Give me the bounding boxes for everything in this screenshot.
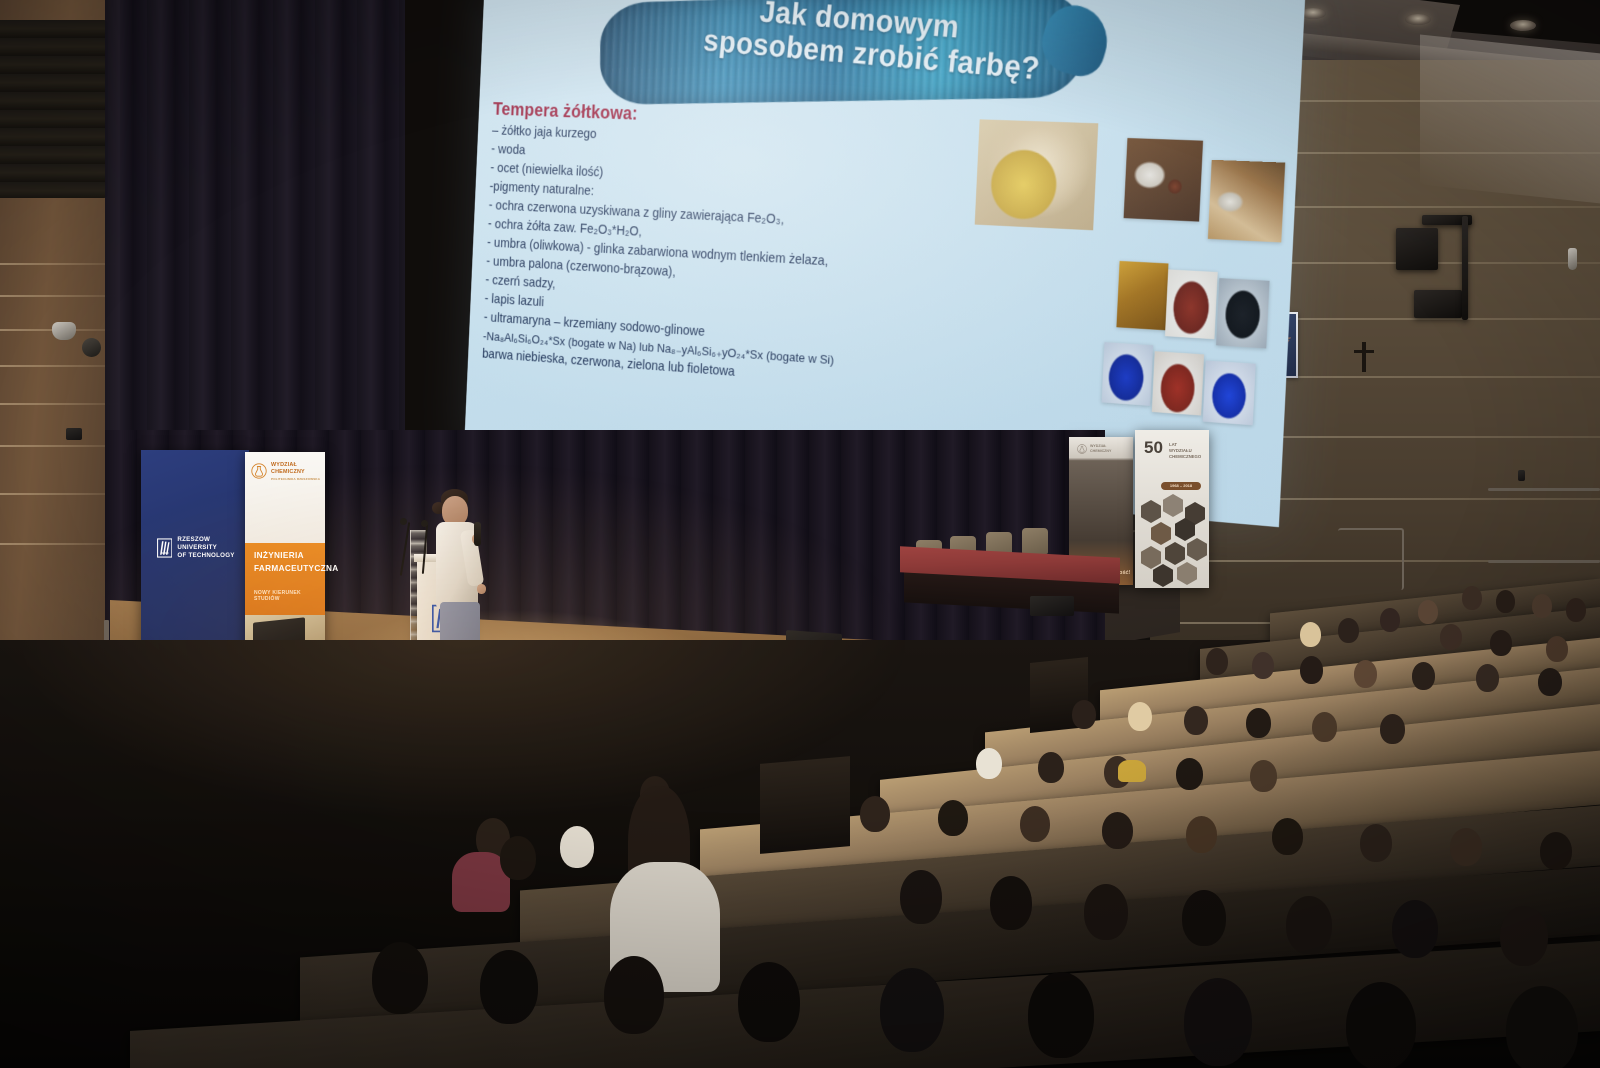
audience-head bbox=[1300, 656, 1323, 684]
crucifix-icon bbox=[1362, 342, 1366, 372]
wall-outlet-box bbox=[66, 428, 82, 440]
ceiling-camera bbox=[52, 322, 76, 340]
audience-head bbox=[372, 942, 428, 1014]
handheld-microphone[interactable] bbox=[474, 522, 481, 546]
slide-photo-lapis-blue bbox=[1102, 342, 1154, 406]
audience-head bbox=[1532, 594, 1552, 618]
audience-head bbox=[1346, 982, 1416, 1068]
anniversary-subtitle: LAT WYDZIAŁU CHEMICZNEGO bbox=[1169, 442, 1201, 461]
presenter-hand bbox=[477, 584, 486, 594]
audience-head bbox=[1538, 668, 1562, 696]
audience-head bbox=[1184, 706, 1208, 735]
audience-head-yellow-sleeve bbox=[1118, 760, 1146, 782]
audience-head bbox=[938, 800, 968, 836]
aisle-step bbox=[760, 756, 850, 854]
audience-head bbox=[1354, 660, 1377, 688]
flask-icon bbox=[251, 463, 267, 479]
audience-head bbox=[604, 956, 664, 1034]
audience-head bbox=[1392, 900, 1438, 958]
audience-head bbox=[1380, 714, 1405, 744]
ceiling-light bbox=[1405, 14, 1431, 25]
slide-photo-cracked-egg-yolk bbox=[975, 119, 1099, 230]
audience-head bbox=[1028, 972, 1094, 1058]
slide-photo-yolk-in-cup bbox=[1124, 138, 1204, 222]
stage-light-pole bbox=[1462, 216, 1468, 320]
audience-head bbox=[1272, 818, 1303, 855]
hexagon-pattern bbox=[1139, 494, 1205, 584]
audience-head bbox=[1084, 884, 1128, 940]
audience-head bbox=[990, 876, 1032, 930]
audience-head bbox=[1566, 598, 1586, 622]
audience-head bbox=[1338, 618, 1359, 643]
audience-head bbox=[1412, 662, 1435, 690]
wall-panel-box bbox=[1518, 470, 1525, 481]
audience-head bbox=[1176, 758, 1203, 790]
banner-program-title: INŻYNIERIA FARMACEUTYCZNA bbox=[254, 550, 339, 575]
banner-50-anniversary: 50 LAT WYDZIAŁU CHEMICZNEGO 1968 – 2018 bbox=[1135, 430, 1209, 588]
camera-dome bbox=[82, 338, 101, 357]
microphone-capsule bbox=[421, 520, 428, 527]
audience-head bbox=[1020, 806, 1050, 842]
audience-head bbox=[1450, 828, 1482, 866]
audience-head bbox=[1206, 648, 1228, 675]
audience-head bbox=[1250, 760, 1277, 792]
audience-head bbox=[1128, 702, 1152, 731]
audience-head bbox=[900, 870, 942, 924]
audience-head bbox=[1506, 986, 1578, 1068]
audience-head bbox=[560, 826, 594, 868]
crucifix-cross-bar bbox=[1354, 350, 1374, 353]
wall-sconce bbox=[1568, 248, 1577, 270]
program-line2: FARMACEUTYCZNA bbox=[254, 563, 339, 575]
audience-head bbox=[1184, 978, 1252, 1066]
audience-head bbox=[1496, 590, 1515, 613]
stage-light-profile bbox=[1414, 290, 1462, 318]
audience-head bbox=[1360, 824, 1392, 862]
balcony-rail bbox=[1488, 560, 1600, 563]
audience-head bbox=[1182, 890, 1226, 946]
slide-photo-yellow-ochre bbox=[1116, 261, 1168, 330]
audience-head bbox=[1476, 664, 1499, 692]
faculty-line2: CHEMICZNY bbox=[1090, 449, 1111, 454]
audience-head bbox=[1418, 600, 1438, 624]
audience-head bbox=[1500, 906, 1548, 966]
ceiling-light bbox=[1510, 20, 1536, 31]
wall-highlight bbox=[1420, 34, 1600, 205]
audience-head bbox=[976, 748, 1002, 779]
prz-logo: RZESZOW UNIVERSITY OF TECHNOLOGY bbox=[157, 536, 249, 560]
audience-head bbox=[1252, 652, 1274, 679]
left-line-array-speaker bbox=[0, 20, 108, 198]
faculty-line1: WYDZIAŁ bbox=[271, 462, 320, 469]
stair-railing bbox=[1338, 528, 1404, 590]
anniversary-years: 1968 – 2018 bbox=[1161, 482, 1201, 490]
audience-head bbox=[1300, 622, 1321, 647]
banner-org-line2: OF TECHNOLOGY bbox=[177, 552, 249, 560]
faculty-line2: CHEMICZNY bbox=[271, 469, 320, 476]
audience-head bbox=[1440, 624, 1462, 650]
slide-photo-soot-black bbox=[1216, 278, 1270, 348]
audience-head bbox=[1380, 608, 1400, 632]
audience-head bbox=[1462, 586, 1482, 610]
banner-org-line1: RZESZOW UNIVERSITY bbox=[177, 536, 249, 552]
flask-icon bbox=[1077, 444, 1087, 454]
stage-light-fresnel bbox=[1396, 228, 1438, 270]
balcony-rail bbox=[1488, 488, 1600, 491]
audience-head bbox=[1286, 896, 1332, 954]
microphone-capsule bbox=[400, 518, 407, 525]
audience-head bbox=[1540, 832, 1572, 870]
slide-body: Tempera żółtkowa: – żółtko jaja kurzego … bbox=[482, 99, 960, 397]
faculty-chemistry-logo: WYDZIAŁ CHEMICZNY POLITECHNIKA RZESZOWSK… bbox=[251, 462, 321, 481]
audience-head bbox=[1246, 708, 1271, 738]
stage-chair bbox=[1022, 528, 1048, 554]
prz-logo-icon bbox=[157, 538, 172, 558]
audience-head bbox=[1072, 700, 1096, 729]
audience-head bbox=[1186, 816, 1217, 853]
program-line1: INŻYNIERIA bbox=[254, 550, 339, 562]
banner-program-subtitle: NOWY KIERUNEK STUDIÓW bbox=[254, 590, 325, 602]
audience-head bbox=[860, 796, 890, 832]
slide-photo-red-ochre bbox=[1165, 269, 1218, 339]
audience-head bbox=[1312, 712, 1337, 742]
audience-head bbox=[1546, 636, 1568, 662]
audience-head bbox=[1102, 812, 1133, 849]
auditorium-scene: 🦅 EXIT Jak domowym sposobem zrobić farbę… bbox=[0, 0, 1600, 1068]
audience-head bbox=[880, 968, 944, 1052]
anniversary-number: 50 bbox=[1144, 440, 1163, 455]
slide-photo-ultramarine bbox=[1203, 360, 1256, 425]
stage-monitor-speaker bbox=[1030, 596, 1074, 616]
slide-photo-red-pigment bbox=[1152, 351, 1204, 415]
faculty-chemistry-logo-small: WYDZIAŁ CHEMICZNY bbox=[1077, 444, 1111, 454]
anniv-line3: CHEMICZNEGO bbox=[1169, 454, 1201, 460]
audience-head bbox=[1490, 630, 1512, 656]
audience-head bbox=[1038, 752, 1064, 783]
audience-head bbox=[500, 836, 536, 880]
audience-head bbox=[738, 962, 800, 1042]
faculty-line3: POLITECHNIKA RZESZOWSKA bbox=[271, 477, 320, 481]
slide-photo-pigment-jars bbox=[1208, 160, 1285, 243]
audience-head bbox=[480, 950, 538, 1024]
